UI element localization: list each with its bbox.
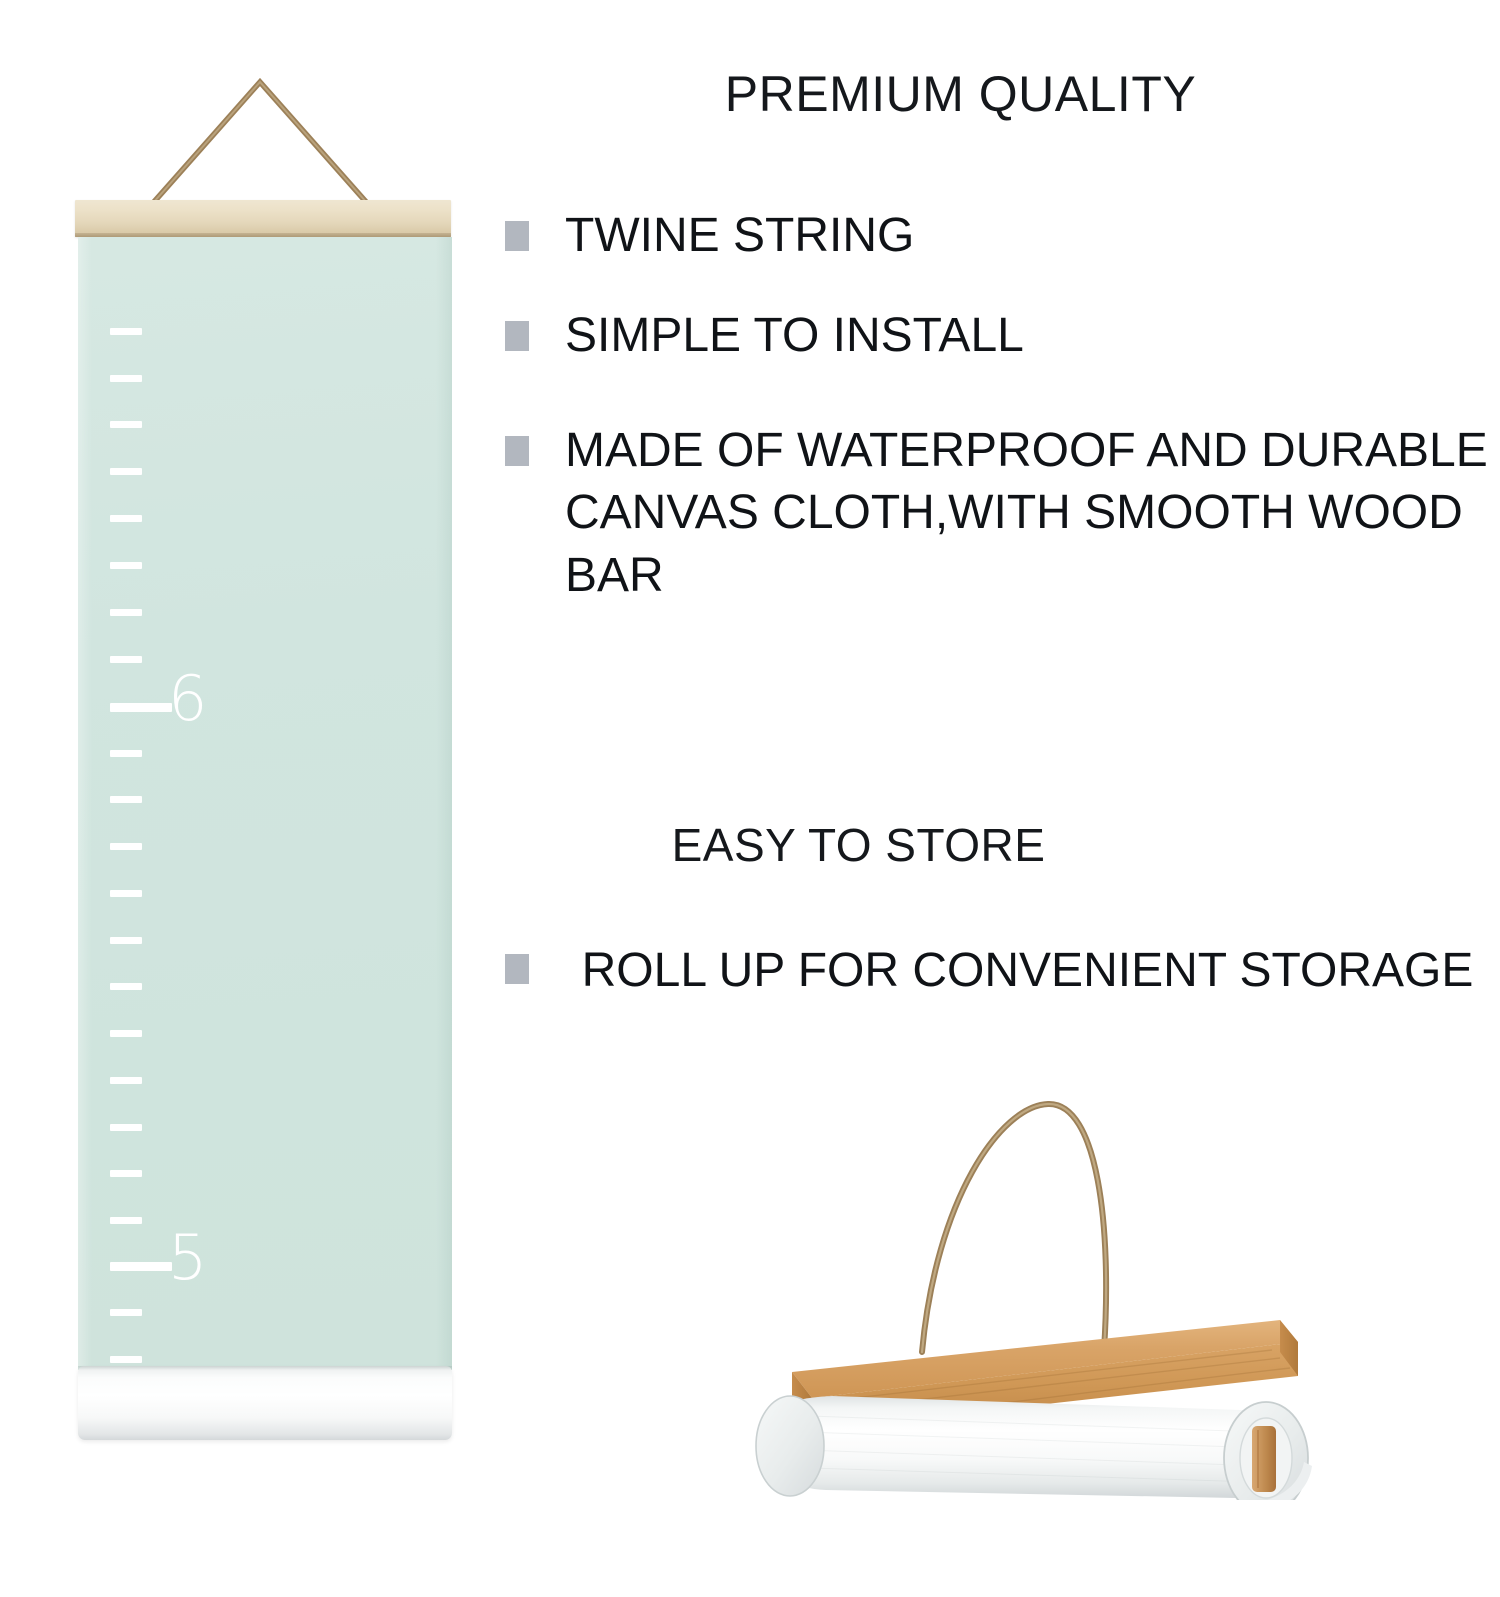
feature-bullet-label: SIMPLE TO INSTALL	[565, 305, 1024, 367]
mint-canvas-sheet: ure 65	[78, 237, 452, 1370]
ruler-tick-minor	[110, 656, 142, 663]
ruler-tick-major	[110, 1262, 172, 1271]
feature-bullet-label: ROLL UP FOR CONVENIENT STORAGE	[565, 940, 1490, 1002]
ruler-tick-minor	[110, 1030, 142, 1037]
ruler-tick-minor	[110, 937, 142, 944]
ruler-tick-minor	[110, 328, 142, 335]
feature-bullet-roll-up-storage: ROLL UP FOR CONVENIENT STORAGE	[505, 940, 1490, 1002]
ruler-tick-minor	[110, 1124, 142, 1131]
ruler-tick-minor	[110, 375, 142, 382]
growth-chart-figure: ure 65	[0, 0, 480, 1500]
ruler-tick-minor	[110, 515, 142, 522]
ruler-tick-minor	[110, 1170, 142, 1177]
ruler-tick-minor	[110, 562, 142, 569]
ruler-tick-minor	[110, 468, 142, 475]
feature-bullet-waterproof-canvas: MADE OF WATERPROOF AND DURABLE CANVAS CL…	[505, 420, 1490, 607]
banner-easy-to-store: EASY TO STORE	[682, 800, 1035, 890]
infographic-canvas: ure 65 PREMIUM QUALITY TWINE STRING SIMP…	[0, 0, 1500, 1500]
ruler-tick-minor	[110, 1077, 142, 1084]
ruler-tick-minor	[110, 890, 142, 897]
feature-bullet-simple-to-install: SIMPLE TO INSTALL	[505, 305, 1465, 367]
wood-hanger-bar	[75, 200, 451, 237]
rolled-canvas-illustration	[700, 1080, 1340, 1500]
canvas-bottom-roll	[78, 1366, 452, 1440]
feature-bullet-label: MADE OF WATERPROOF AND DURABLE CANVAS CL…	[565, 420, 1490, 607]
ruler-tick-minor	[110, 1356, 142, 1363]
banner-premium-quality: PREMIUM QUALITY	[551, 40, 1370, 148]
bullet-square-icon	[505, 436, 529, 466]
ruler-tick-minor	[110, 750, 142, 757]
ruler-tick-major	[110, 703, 172, 712]
feature-bullet-twine-string: TWINE STRING	[505, 205, 1465, 267]
ruler-tick-minor	[110, 796, 142, 803]
ruler-tick-minor	[110, 609, 142, 616]
bullet-square-icon	[505, 221, 529, 251]
feature-bullet-label: TWINE STRING	[565, 205, 914, 267]
ruler-tick-minor	[110, 1217, 142, 1224]
ruler-tick-minor	[110, 983, 142, 990]
ruler-tick-minor	[110, 843, 142, 850]
ruler-tick-minor	[110, 421, 142, 428]
rolled-product-figure	[700, 1080, 1340, 1500]
ruler-number-label: 5	[168, 1227, 207, 1289]
ruler-number-label: 6	[168, 668, 207, 730]
bullet-square-icon	[505, 954, 529, 984]
ruler-tick-minor	[110, 1309, 142, 1316]
twine-string-icon	[60, 70, 480, 220]
bullet-square-icon	[505, 321, 529, 351]
